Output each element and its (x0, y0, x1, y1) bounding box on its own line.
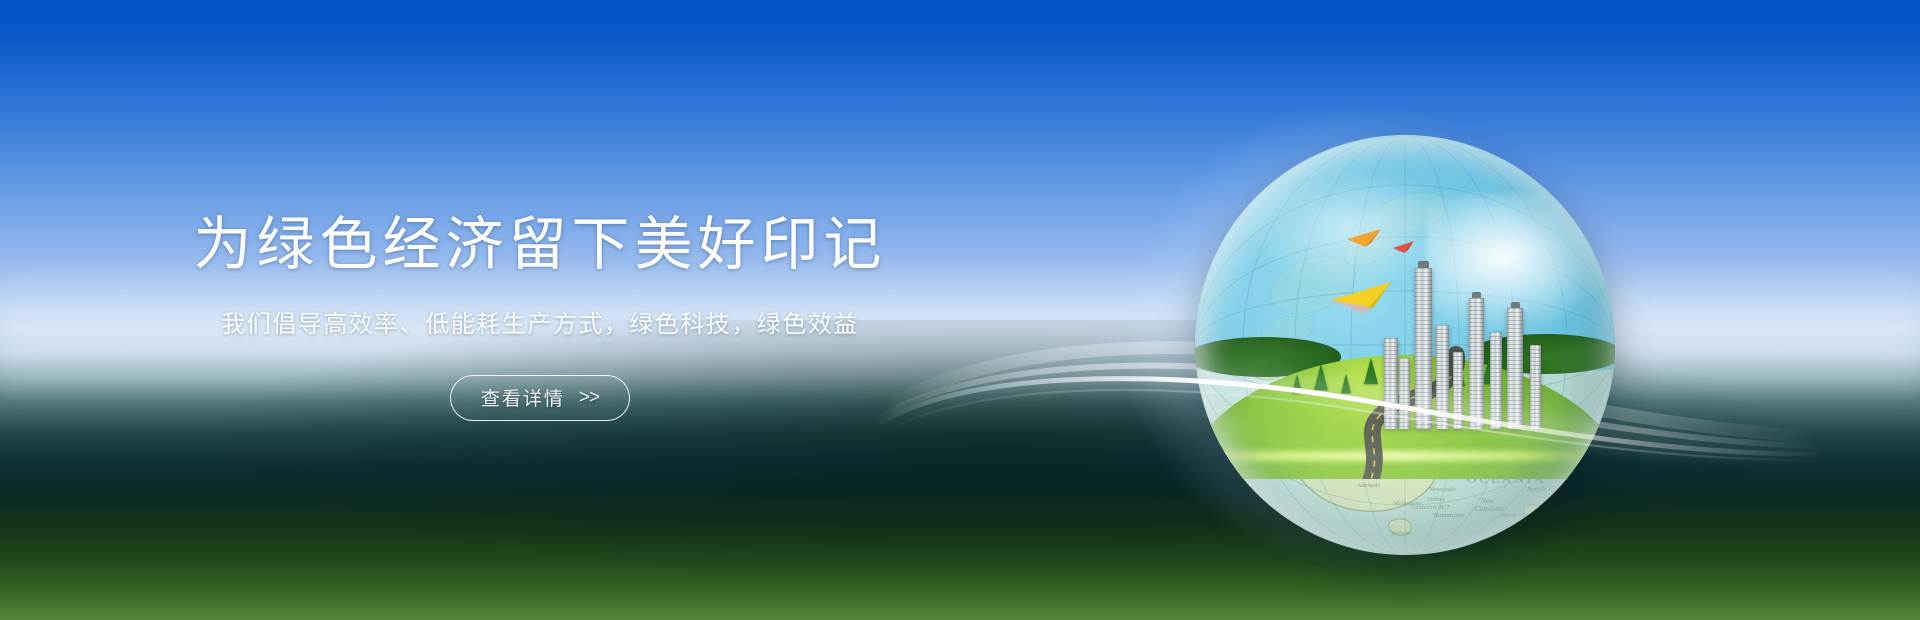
glass-globe: AUSTRALIA OCEANIA PAPUA NEW GUINEA SOLOM… (1195, 135, 1615, 555)
hero-banner: AUSTRALIA OCEANIA PAPUA NEW GUINEA SOLOM… (0, 0, 1920, 620)
double-chevron-right-icon: >> (579, 387, 599, 409)
hero-copy: 为绿色经济留下美好印记 我们倡导高效率、低能耗生产方式，绿色科技，绿色效益 查看… (0, 215, 1080, 421)
view-details-label: 查看详情 (481, 384, 565, 411)
eco-globe-illustration: AUSTRALIA OCEANIA PAPUA NEW GUINEA SOLOM… (1145, 125, 1575, 565)
page-subtitle: 我们倡导高效率、低能耗生产方式，绿色科技，绿色效益 (0, 304, 1080, 339)
globe-rim-light (1195, 135, 1615, 555)
cta-container: 查看详情 >> (0, 375, 1080, 421)
view-details-button[interactable]: 查看详情 >> (450, 375, 630, 421)
page-title: 为绿色经济留下美好印记 (0, 215, 1080, 276)
